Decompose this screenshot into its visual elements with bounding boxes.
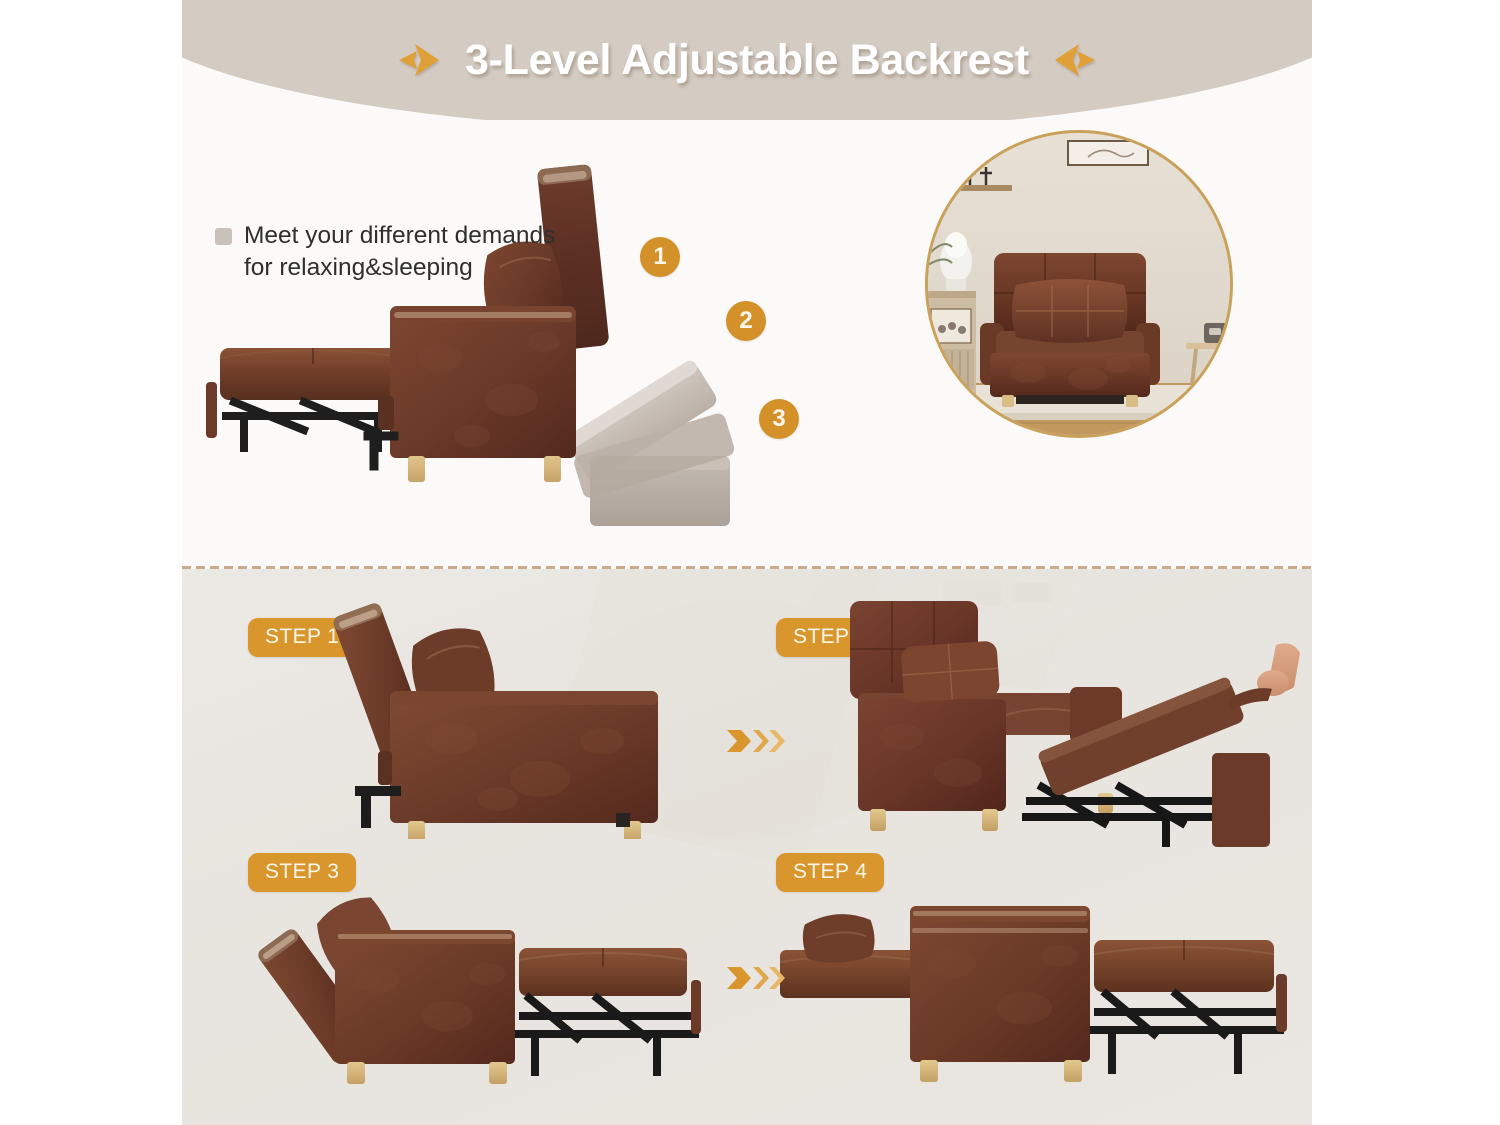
step-3-illustration [237, 884, 707, 1099]
chevron-right-triple-icon [725, 726, 785, 756]
lifestyle-photo [925, 130, 1233, 438]
top-feature-section: Meet your different demands for relaxing… [182, 120, 1312, 560]
arrow-right-decoration-icon [395, 38, 443, 82]
square-bullet-icon [215, 228, 232, 245]
armchair [980, 253, 1160, 407]
header: 3-Level Adjustable Backrest [182, 0, 1312, 120]
lifestyle-photo-scene [928, 133, 1230, 435]
infographic-page: 3-Level Adjustable Backrest [0, 0, 1500, 1125]
backrest-positions-illustration [182, 120, 902, 560]
steps-section: STEP 1 [182, 569, 1312, 1125]
step-4-illustration [772, 884, 1292, 1099]
feature-text: Meet your different demands for relaxing… [244, 220, 555, 285]
step-2-illustration [830, 587, 1300, 852]
position-marker-1: 1 [640, 237, 680, 277]
position-marker-2: 2 [726, 301, 766, 341]
position-marker-3: 3 [759, 399, 799, 439]
arrow-left-decoration-icon [1051, 38, 1099, 82]
step-1-illustration [302, 599, 722, 839]
feature-callout: Meet your different demands for relaxing… [215, 220, 555, 285]
chair-main-body [368, 164, 610, 482]
chevron-right-triple-icon-2 [725, 963, 785, 993]
infographic-card: 3-Level Adjustable Backrest [182, 0, 1312, 1125]
page-title: 3-Level Adjustable Backrest [465, 36, 1029, 85]
